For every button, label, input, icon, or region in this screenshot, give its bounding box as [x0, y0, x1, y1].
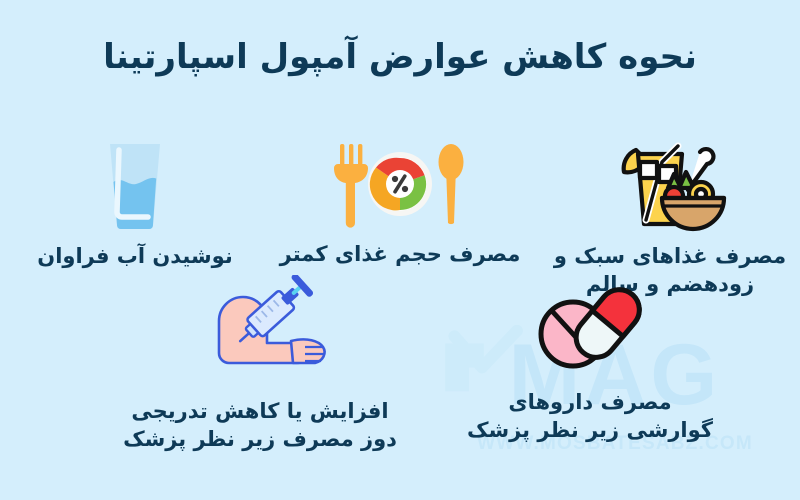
item-water: نوشیدن آب فراوان: [0, 140, 270, 270]
pills-capsule-icon: [529, 272, 651, 376]
percent-donut-icon: [370, 158, 426, 211]
caption-line: گوارشی زیر نظر پزشک: [425, 416, 755, 444]
spoon-icon: [439, 144, 464, 224]
item-gastro: مصرف داروهای گوارشی زیر نظر پزشک: [425, 272, 755, 445]
caption-line: مصرف غذاهای سبک و: [540, 242, 800, 270]
plate-fork-spoon-percent-icon: [332, 140, 468, 230]
page-title: نحوه کاهش عوارض آمپول اسپارتینا: [0, 36, 800, 79]
arm-injection-icon: [185, 275, 335, 385]
item-portion: مصرف حجم غذای کمتر: [255, 140, 545, 268]
infographic-canvas: MAG WWW.MOSBATESABZ.COM نحوه کاهش عوارض …: [0, 0, 800, 500]
caption-water: نوشیدن آب فراوان: [0, 242, 270, 270]
caption-line: مصرف حجم غذای کمتر: [255, 240, 545, 268]
caption-line: مصرف داروهای: [425, 388, 755, 416]
fork-icon: [334, 144, 368, 228]
caption-line: افزایش یا کاهش تدریجی: [95, 397, 425, 425]
item-dose: افزایش یا کاهش تدریجی دوز مصرف زیر نظر پ…: [95, 275, 425, 454]
caption-portion: مصرف حجم غذای کمتر: [255, 240, 545, 268]
caption-line: دوز مصرف زیر نظر پزشک: [95, 425, 425, 453]
caption-line: نوشیدن آب فراوان: [0, 242, 270, 270]
caption-dose: افزایش یا کاهش تدریجی دوز مصرف زیر نظر پ…: [95, 397, 425, 454]
caption-gastro: مصرف داروهای گوارشی زیر نظر پزشک: [425, 388, 755, 445]
water-glass-icon: [104, 140, 166, 232]
juice-and-salad-icon: [612, 128, 728, 232]
